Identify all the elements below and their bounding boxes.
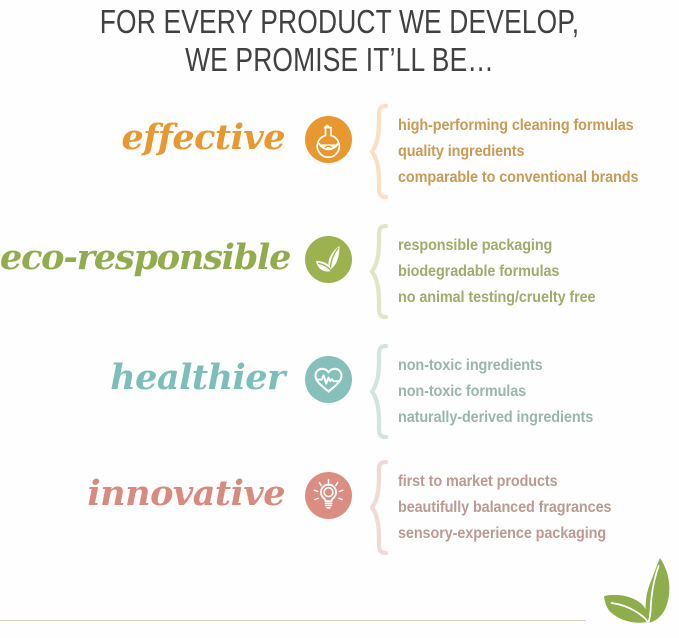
headline-line-2: WE PROMISE IT’LL BE… [68,40,611,78]
promise-keyword-healthier: healthier [0,352,285,404]
list-item: no animal testing/cruelty free [398,285,595,311]
two-leaf-logo [598,557,676,638]
leaf-icon [305,236,352,283]
list-item: high-performing cleaning formulas [398,113,638,139]
promise-bullets-healthier: non-toxic ingredients non-toxic formulas… [398,353,593,430]
promise-bullets-eco-responsible: responsible packaging biodegradable form… [398,233,595,310]
lightbulb-icon [305,472,352,519]
list-item: non-toxic ingredients [398,353,593,379]
promise-row-healthier: healthier non-toxic ingredients non-toxi… [0,352,679,454]
headline-line-1: FOR EVERY PRODUCT WE DEVELOP, [68,0,611,40]
promise-keyword-effective: effective [0,112,285,164]
promise-bullets-effective: high-performing cleaning formulas qualit… [398,113,638,190]
list-item: non-toxic formulas [398,379,593,405]
promise-row-eco-responsible: eco-responsible responsible packaging bi… [0,232,679,334]
page-title: FOR EVERY PRODUCT WE DEVELOP, WE PROMISE… [68,0,611,78]
promise-row-effective: effective high-performing clean [0,112,679,214]
promise-keyword-eco-responsible: eco-responsible [0,232,285,284]
infographic-poster: FOR EVERY PRODUCT WE DEVELOP, WE PROMISE… [0,0,679,638]
promise-bullets-innovative: first to market products beautifully bal… [398,469,611,546]
list-item: biodegradable formulas [398,259,595,285]
brace-effective [368,104,390,199]
list-item: naturally-derived ingredients [398,405,593,431]
brace-innovative [368,460,390,555]
heart-pulse-icon [305,356,352,403]
list-item: sensory-experience packaging [398,521,611,547]
list-item: responsible packaging [398,233,595,259]
promise-row-innovative: innovative [0,468,679,570]
brace-healthier [368,344,390,439]
footer-divider [0,620,586,621]
list-item: quality ingredients [398,139,638,165]
brace-eco-responsible [368,224,390,319]
list-item: beautifully balanced fragrances [398,495,611,521]
list-item: first to market products [398,469,611,495]
promise-keyword-innovative: innovative [0,468,285,520]
list-item: comparable to conventional brands [398,165,638,191]
flask-icon [305,116,352,163]
